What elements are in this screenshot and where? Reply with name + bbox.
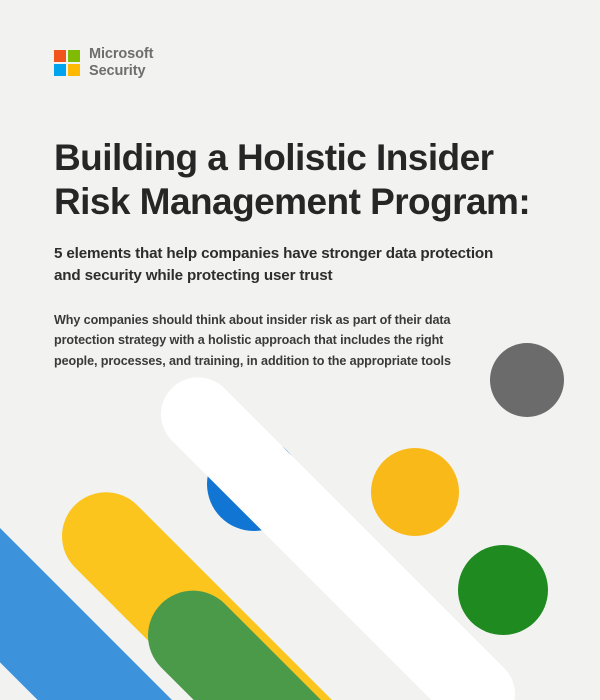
page-subtitle: 5 elements that help companies have stro… <box>54 243 506 287</box>
logo-wordmark: Microsoft Security <box>89 46 153 80</box>
logo-square-bottom-left <box>54 64 66 76</box>
yellow-bar <box>44 474 439 700</box>
page-description: Why companies should think about insider… <box>54 310 454 371</box>
microsoft-security-logo: Microsoft Security <box>54 46 153 80</box>
green-bar-cap-circle <box>458 545 548 635</box>
green-bar <box>129 572 525 700</box>
green-bar-group <box>129 545 548 700</box>
white-bar-group <box>146 343 564 700</box>
yellow-bar-cap-circle <box>371 448 459 536</box>
white-bar <box>146 362 531 700</box>
blue-bar-group <box>0 437 301 700</box>
blue-bar-cap-circle <box>207 437 301 531</box>
white-bar-cap-circle <box>490 343 564 417</box>
microsoft-logo-icon <box>54 50 80 76</box>
logo-wordmark-security: Security <box>89 63 153 80</box>
logo-square-top-left <box>54 50 66 62</box>
logo-wordmark-microsoft: Microsoft <box>89 46 153 63</box>
cover-page: Microsoft Security Building a Holistic I… <box>0 0 600 700</box>
page-title: Building a Holistic Insider Risk Managem… <box>54 136 554 223</box>
blue-bar <box>0 466 270 700</box>
logo-square-bottom-right <box>68 64 80 76</box>
logo-square-top-right <box>68 50 80 62</box>
yellow-bar-group <box>44 448 459 700</box>
